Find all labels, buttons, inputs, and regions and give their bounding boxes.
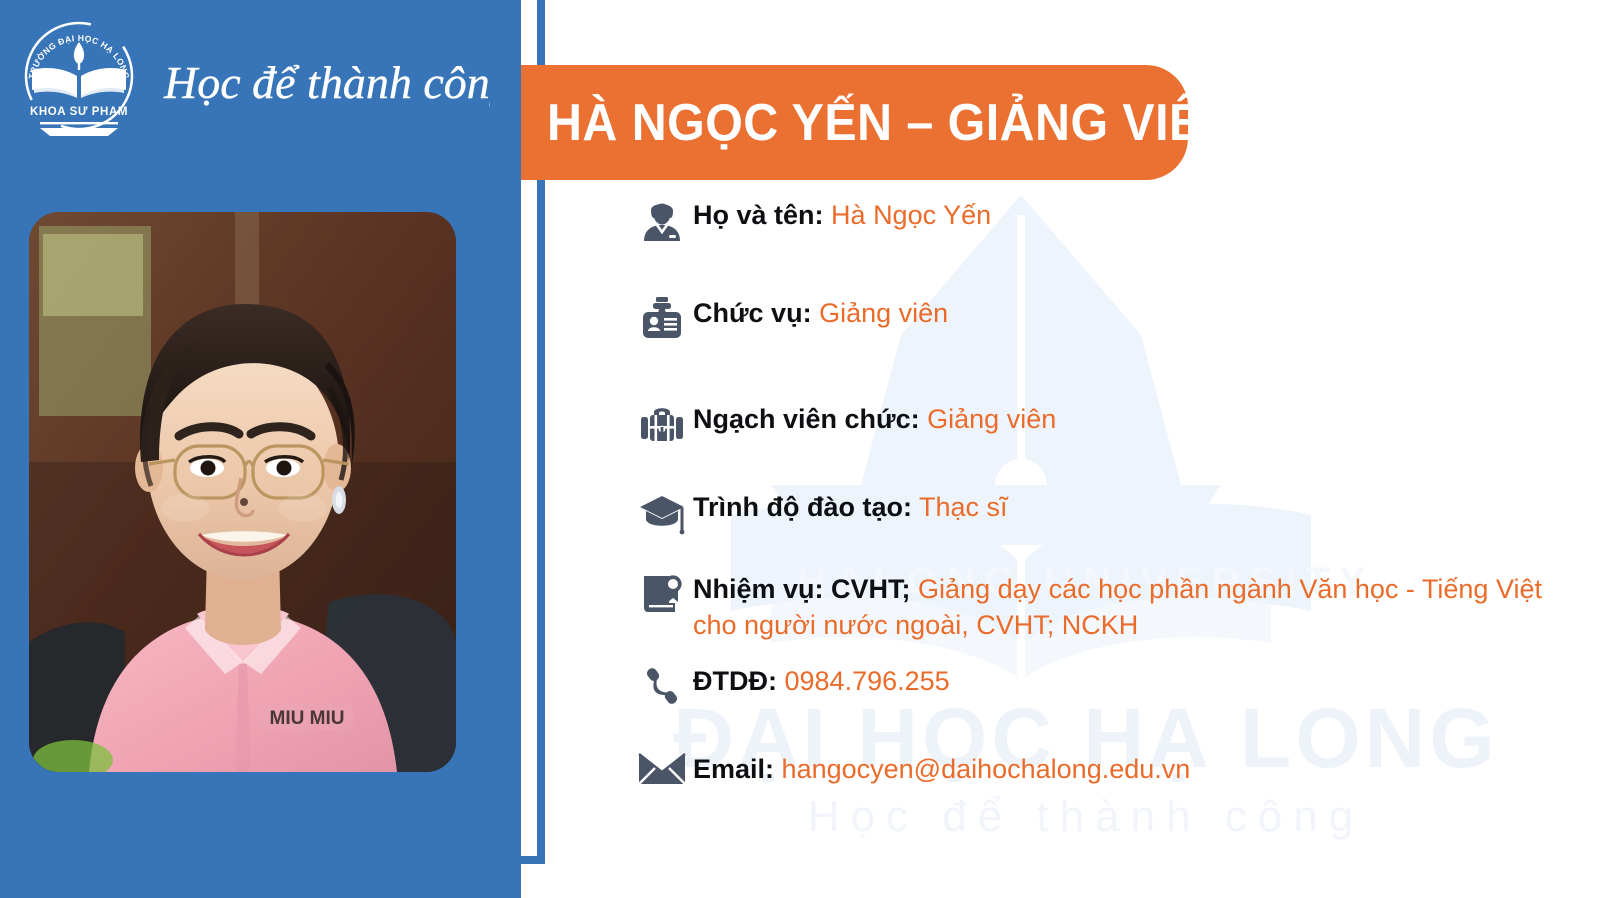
brand-header: TRƯỜNG ĐẠI HỌC HẠ LONG KHOA SƯ PHẠM bbox=[0, 0, 521, 165]
info-text-rank: Ngạch viên chức: Giảng viên bbox=[693, 399, 1591, 437]
info-text-phone: ĐTDĐ: 0984.796.255 bbox=[693, 661, 1591, 699]
info-row-duty: Nhiệm vụ: CVHT; Giảng dạy các học phần n… bbox=[631, 569, 1591, 643]
svg-text:KHOA SƯ PHẠM: KHOA SƯ PHẠM bbox=[30, 106, 128, 118]
tagline-text: Học để thành công! bbox=[163, 57, 490, 108]
info-text-duty: Nhiệm vụ: CVHT; Giảng dạy các học phần n… bbox=[693, 569, 1591, 643]
value-phone: 0984.796.255 bbox=[785, 666, 950, 696]
briefcase-icon bbox=[631, 399, 693, 447]
svg-text:MIU MIU: MIU MIU bbox=[270, 708, 345, 729]
info-row-degree: Trình độ đào tạo: Thạc sĩ bbox=[631, 487, 1591, 541]
info-row-full-name: Họ và tên: Hà Ngọc Yến bbox=[631, 195, 1591, 249]
label-rank: Ngạch viên chức: bbox=[693, 404, 920, 434]
profile-slide: TRƯỜNG ĐẠI HỌC HẠ LONG KHOA SƯ PHẠM bbox=[0, 0, 1600, 898]
user-icon bbox=[631, 195, 693, 243]
value-position: Giảng viên bbox=[819, 298, 948, 328]
label-position: Chức vụ: bbox=[693, 298, 812, 328]
portrait-photo: MIU MIU bbox=[29, 212, 456, 772]
title-banner: HÀ NGỌC YẾN – GIẢNG VIÊN bbox=[521, 65, 1188, 180]
value-degree: Thạc sĩ bbox=[919, 492, 1008, 522]
value-full-name: Hà Ngọc Yến bbox=[831, 200, 991, 230]
value-rank: Giảng viên bbox=[927, 404, 1056, 434]
phone-icon bbox=[631, 661, 693, 709]
info-text-email: Email: hangocyen@daihochalong.edu.vn bbox=[693, 749, 1591, 787]
profile-info-list: Họ và tên: Hà Ngọc Yến bbox=[631, 195, 1591, 803]
id-badge-icon bbox=[631, 293, 693, 341]
left-blue-panel: TRƯỜNG ĐẠI HỌC HẠ LONG KHOA SƯ PHẠM bbox=[0, 0, 521, 898]
content-area: HALONG UNIVERSITY ĐẠI HỌC HẠ LONG Học để… bbox=[521, 0, 1600, 898]
brand-tagline: Học để thành công! bbox=[160, 40, 490, 120]
info-text-position: Chức vụ: Giảng viên bbox=[693, 293, 1591, 331]
page-title: HÀ NGỌC YẾN – GIẢNG VIÊN bbox=[521, 93, 1237, 153]
info-text-degree: Trình độ đào tạo: Thạc sĩ bbox=[693, 487, 1591, 525]
info-row-email: Email: hangocyen@daihochalong.edu.vn bbox=[631, 749, 1591, 803]
envelope-icon bbox=[631, 749, 693, 787]
label-duty: Nhiệm vụ: CVHT; bbox=[693, 574, 911, 604]
value-email: hangocyen@daihochalong.edu.vn bbox=[782, 754, 1191, 784]
info-text-full-name: Họ và tên: Hà Ngọc Yến bbox=[693, 195, 1591, 233]
info-row-position: Chức vụ: Giảng viên bbox=[631, 293, 1591, 347]
info-row-rank: Ngạch viên chức: Giảng viên bbox=[631, 399, 1591, 453]
info-row-phone: ĐTDĐ: 0984.796.255 bbox=[631, 661, 1591, 715]
label-phone: ĐTDĐ: bbox=[693, 666, 777, 696]
book-award-icon bbox=[631, 569, 693, 617]
label-degree: Trình độ đào tạo: bbox=[693, 492, 912, 522]
graduation-cap-icon bbox=[631, 487, 693, 535]
university-logo: TRƯỜNG ĐẠI HỌC HẠ LONG KHOA SƯ PHẠM bbox=[20, 14, 138, 139]
label-email: Email: bbox=[693, 754, 774, 784]
label-full-name: Họ và tên: bbox=[693, 200, 824, 230]
